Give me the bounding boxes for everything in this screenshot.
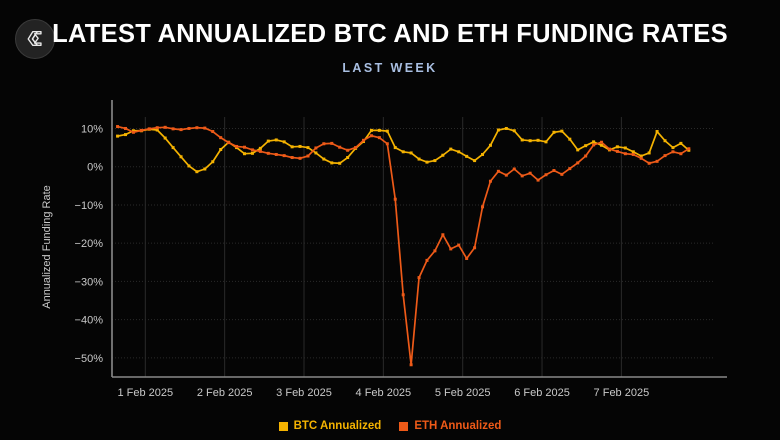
x-tick-label: 3 Feb 2025: [276, 387, 332, 399]
series-marker: [648, 162, 651, 165]
series-marker: [687, 147, 690, 150]
x-tick-label: 5 Feb 2025: [435, 387, 491, 399]
series-marker: [394, 146, 397, 149]
series-marker: [425, 259, 428, 262]
series-marker: [378, 129, 381, 132]
series-marker: [433, 159, 436, 162]
series-marker: [291, 145, 294, 148]
series-marker: [116, 135, 119, 138]
series-marker: [275, 153, 278, 156]
series-marker: [616, 150, 619, 153]
series-marker: [473, 246, 476, 249]
series-marker: [203, 127, 206, 130]
x-tick-label: 6 Feb 2025: [514, 387, 570, 399]
y-tick-label: −10%: [75, 200, 104, 212]
x-tick-label: 4 Feb 2025: [356, 387, 412, 399]
series-marker: [314, 151, 317, 154]
series-marker: [386, 142, 389, 145]
series-marker: [338, 146, 341, 149]
legend-item[interactable]: ETH Annualized: [399, 420, 501, 432]
x-tick-label: 2 Feb 2025: [197, 387, 253, 399]
series-marker: [187, 164, 190, 167]
series-marker: [291, 156, 294, 159]
series-marker: [584, 144, 587, 147]
series-marker: [330, 142, 333, 145]
series-marker: [394, 198, 397, 201]
series-marker: [124, 127, 127, 130]
series-marker: [211, 160, 214, 163]
series-marker: [457, 244, 460, 247]
series-marker: [640, 157, 643, 160]
series-marker: [203, 168, 206, 171]
series-marker: [362, 139, 365, 142]
series-marker: [354, 146, 357, 149]
series-marker: [600, 141, 603, 144]
series-marker: [632, 150, 635, 153]
series-marker: [283, 154, 286, 157]
chart-legend: BTC AnnualizedETH Annualized: [0, 420, 780, 432]
series-marker: [299, 157, 302, 160]
series-marker: [314, 146, 317, 149]
series-marker: [632, 153, 635, 156]
series-marker: [187, 127, 190, 130]
series-marker: [473, 159, 476, 162]
series-marker: [116, 125, 119, 128]
series-marker: [664, 154, 667, 157]
series-marker: [306, 146, 309, 149]
series-marker: [338, 162, 341, 165]
series-marker: [299, 145, 302, 148]
y-axis-ticks: 10%0%−10%−20%−30%−40%−50%: [75, 123, 104, 364]
y-tick-label: −40%: [75, 315, 104, 327]
x-axis-ticks: 1 Feb 20252 Feb 20253 Feb 20254 Feb 2025…: [117, 387, 649, 399]
series-marker: [656, 130, 659, 133]
series-marker: [616, 145, 619, 148]
series-marker: [521, 138, 524, 141]
series-marker: [656, 160, 659, 163]
series-line: [118, 128, 689, 171]
series-marker: [592, 143, 595, 146]
series-marker: [497, 170, 500, 173]
series-marker: [592, 140, 595, 143]
series-marker: [537, 139, 540, 142]
series-marker: [513, 129, 516, 132]
series-marker: [457, 150, 460, 153]
series-marker: [552, 131, 555, 134]
chart-subtitle: LAST WEEK: [0, 61, 780, 75]
series-marker: [679, 142, 682, 145]
series-marker: [164, 126, 167, 129]
series-marker: [164, 137, 167, 140]
series-marker: [283, 140, 286, 143]
series-marker: [172, 127, 175, 130]
series-marker: [505, 127, 508, 130]
series-marker: [648, 151, 651, 154]
series-marker: [449, 247, 452, 250]
series-marker: [576, 148, 579, 151]
series-marker: [243, 146, 246, 149]
y-axis-title: Annualized Funding Rate: [41, 185, 53, 309]
series-marker: [195, 126, 198, 129]
series-marker: [306, 155, 309, 158]
series-marker: [219, 148, 222, 151]
series-marker: [267, 152, 270, 155]
series-marker: [195, 170, 198, 173]
series-marker: [402, 150, 405, 153]
y-tick-label: 0%: [87, 162, 103, 174]
series-marker: [425, 161, 428, 164]
series-marker: [624, 152, 627, 155]
line-chart-svg: 10%0%−10%−20%−30%−40%−50% 1 Feb 20252 Fe…: [0, 92, 780, 410]
y-tick-label: 10%: [81, 123, 103, 135]
series-marker: [251, 152, 254, 155]
data-series: [116, 125, 690, 366]
series-marker: [132, 131, 135, 134]
series-marker: [172, 146, 175, 149]
legend-color-swatch: [279, 422, 288, 431]
series-marker: [346, 149, 349, 152]
series-marker: [124, 133, 127, 136]
legend-item[interactable]: BTC Annualized: [279, 420, 382, 432]
series-marker: [489, 180, 492, 183]
series-marker: [259, 150, 262, 153]
chart-header: LATEST ANNUALIZED BTC AND ETH FUNDING RA…: [0, 0, 780, 92]
series-marker: [219, 136, 222, 139]
series-marker: [346, 156, 349, 159]
series-marker: [180, 128, 183, 131]
series-marker: [624, 146, 627, 149]
series-marker: [552, 169, 555, 172]
series-marker: [505, 174, 508, 177]
series-marker: [418, 158, 421, 161]
series-marker: [156, 126, 159, 129]
y-tick-label: −30%: [75, 276, 104, 288]
series-marker: [433, 249, 436, 252]
series-marker: [584, 155, 587, 158]
series-marker: [576, 161, 579, 164]
series-marker: [465, 155, 468, 158]
legend-label: BTC Annualized: [294, 420, 382, 432]
series-marker: [418, 276, 421, 279]
series-marker: [545, 140, 548, 143]
series-marker: [529, 139, 532, 142]
plot-area: 10%0%−10%−20%−30%−40%−50% 1 Feb 20252 Fe…: [0, 92, 780, 410]
series-marker: [529, 172, 532, 175]
series-marker: [235, 145, 238, 148]
series-line: [118, 127, 689, 365]
series-marker: [679, 152, 682, 155]
series-marker: [671, 150, 674, 153]
series-marker: [560, 173, 563, 176]
series-marker: [386, 130, 389, 133]
y-tick-label: −50%: [75, 353, 104, 365]
series-marker: [441, 154, 444, 157]
series-marker: [664, 139, 667, 142]
series-marker: [521, 174, 524, 177]
series-marker: [275, 138, 278, 141]
series-marker: [259, 147, 262, 150]
x-tick-label: 1 Feb 2025: [117, 387, 173, 399]
series-marker: [497, 129, 500, 132]
series-marker: [180, 155, 183, 158]
legend-color-swatch: [399, 422, 408, 431]
series-marker: [513, 168, 516, 171]
series-marker: [410, 151, 413, 154]
series-marker: [370, 129, 373, 132]
series-marker: [211, 130, 214, 133]
series-marker: [568, 138, 571, 141]
series-marker: [441, 233, 444, 236]
legend-label: ETH Annualized: [414, 420, 501, 432]
series-marker: [545, 173, 548, 176]
axis-lines: [112, 100, 727, 377]
series-marker: [227, 141, 230, 144]
series-marker: [148, 127, 151, 130]
y-tick-label: −20%: [75, 238, 104, 250]
series-marker: [402, 293, 405, 296]
series-marker: [322, 158, 325, 161]
series-marker: [489, 144, 492, 147]
series-marker: [481, 205, 484, 208]
chart-page: LATEST ANNUALIZED BTC AND ETH FUNDING RA…: [0, 0, 780, 440]
y-axis-label: Annualized Funding Rate: [41, 185, 53, 309]
series-marker: [410, 363, 413, 366]
series-marker: [608, 148, 611, 151]
series-marker: [537, 179, 540, 182]
series-marker: [378, 136, 381, 139]
series-marker: [449, 148, 452, 151]
series-marker: [322, 142, 325, 145]
series-marker: [330, 161, 333, 164]
x-tick-label: 7 Feb 2025: [594, 387, 650, 399]
series-marker: [243, 152, 246, 155]
series-marker: [251, 148, 254, 151]
series-marker: [140, 129, 143, 132]
page-title: LATEST ANNUALIZED BTC AND ETH FUNDING RA…: [0, 20, 780, 49]
series-marker: [568, 167, 571, 170]
series-marker: [370, 134, 373, 137]
series-marker: [267, 140, 270, 143]
series-marker: [465, 257, 468, 260]
series-marker: [481, 153, 484, 156]
series-marker: [671, 146, 674, 149]
series-marker: [560, 130, 563, 133]
